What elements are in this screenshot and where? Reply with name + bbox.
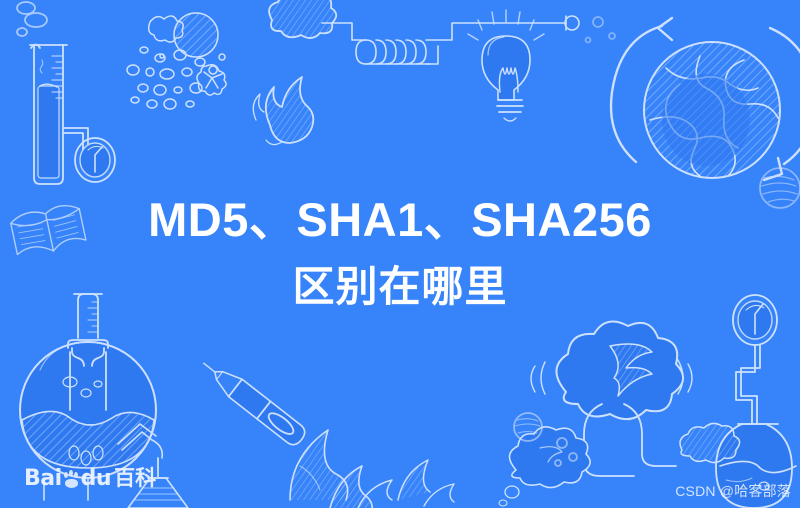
- thought-cloud-icon: [499, 427, 590, 506]
- coil-wire-icon: [322, 16, 579, 64]
- planet-icon: [514, 413, 542, 441]
- bubbles-icon: [555, 438, 577, 466]
- cells-cluster-icon: [127, 13, 226, 109]
- cloud-icon: [269, 0, 336, 38]
- graduated-cylinder-icon: [30, 45, 67, 185]
- lightbulb-icon: [468, 10, 544, 121]
- title-line-2: 区别在哪里: [0, 259, 800, 315]
- globe-recycle-icon: [611, 18, 800, 180]
- page-title: MD5、SHA1、SHA256 区别在哪里: [0, 191, 800, 315]
- storm-cloud-icon: [531, 322, 692, 477]
- leaf-flame-icon: [290, 430, 454, 508]
- pipe-connector-icon: [63, 128, 100, 161]
- bubbles-icon: [17, 2, 47, 36]
- flame-icon: [253, 77, 313, 145]
- baidu-baike-logo[interactable]: Bai du 百科: [24, 466, 156, 492]
- paw-icon: [63, 470, 80, 489]
- logo-text-baike: 百科: [114, 468, 156, 490]
- fountain-pen-icon: [197, 355, 308, 449]
- baike-banner-card: MD5、SHA1、SHA256 区别在哪里 Bai du 百科 CSDN @哈客…: [0, 0, 800, 508]
- logo-text-du: du: [81, 468, 111, 490]
- title-line-1: MD5、SHA1、SHA256: [0, 191, 800, 249]
- pressure-gauge-icon: [75, 138, 115, 182]
- csdn-watermark: CSDN @哈客部落: [675, 482, 791, 500]
- bubbles-icon: [586, 17, 616, 43]
- cloud-icon: [680, 423, 740, 462]
- logo-text-bai: Bai: [24, 468, 62, 490]
